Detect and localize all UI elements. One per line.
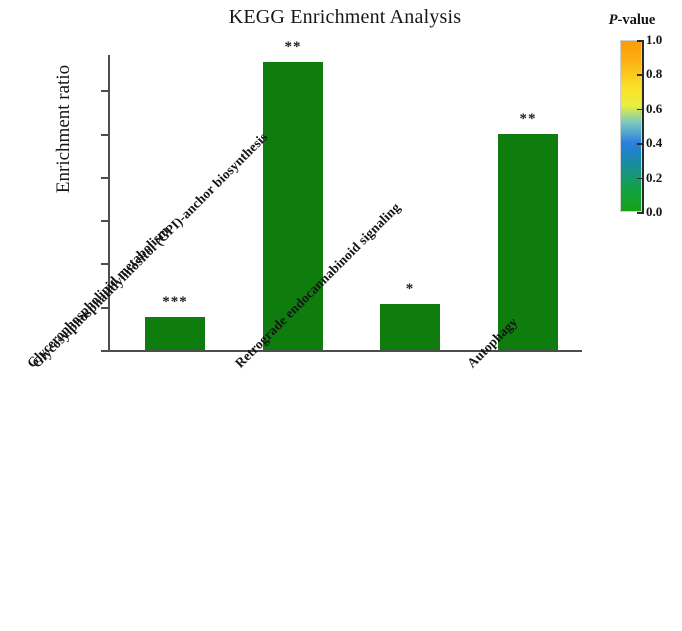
colorbar-tick-mark-1 — [637, 74, 644, 76]
legend-title-rest: -value — [618, 12, 656, 28]
bar-glycerophospholipid-metabolism — [145, 317, 205, 350]
bar-annotation-3: ** — [498, 112, 558, 127]
colorbar-axis-line — [642, 40, 644, 212]
colorbar-tick-mark-2 — [637, 109, 644, 111]
colorbar-tick-mark-0 — [637, 40, 644, 42]
colorbar-tick-label-4: 0.2 — [646, 170, 662, 186]
bar-annotation-0: *** — [145, 295, 205, 310]
colorbar-tick-label-1: 0.8 — [646, 66, 662, 82]
bar-annotation-2: * — [380, 282, 440, 297]
pvalue-colorbar-legend: P-value 1.0 0.8 0.6 0.4 0.2 0.0 — [598, 4, 682, 224]
kegg-enrichment-chart: KEGG Enrichment Analysis 0.00 0.05 0.10 … — [0, 0, 682, 631]
colorbar-tick-mark-5 — [637, 212, 644, 214]
colorbar-tick-mark-3 — [637, 143, 644, 145]
bar-retrograde-endocannabinoid-signaling — [380, 304, 440, 350]
colorbar-gradient — [620, 40, 642, 212]
plot-area: *** ** * ** — [110, 57, 580, 350]
y-tick-mark-0 — [101, 350, 109, 352]
y-tick-mark-3 — [101, 220, 109, 222]
y-tick-mark-6 — [101, 90, 109, 92]
colorbar-tick-label-3: 0.4 — [646, 135, 662, 151]
legend-title: P-value — [598, 12, 666, 29]
colorbar-tick-label-2: 0.6 — [646, 101, 662, 117]
y-tick-mark-2 — [101, 263, 109, 265]
y-axis-title: Enrichment ratio — [53, 29, 75, 229]
y-tick-mark-5 — [101, 134, 109, 136]
colorbar-tick-mark-4 — [637, 178, 644, 180]
x-axis-line — [108, 350, 582, 352]
legend-title-italic: P — [609, 12, 618, 28]
y-tick-mark-4 — [101, 177, 109, 179]
colorbar-tick-label-0: 1.0 — [646, 32, 662, 48]
bar-annotation-1: ** — [263, 40, 323, 55]
colorbar-tick-label-5: 0.0 — [646, 204, 662, 220]
chart-title: KEGG Enrichment Analysis — [110, 6, 580, 29]
